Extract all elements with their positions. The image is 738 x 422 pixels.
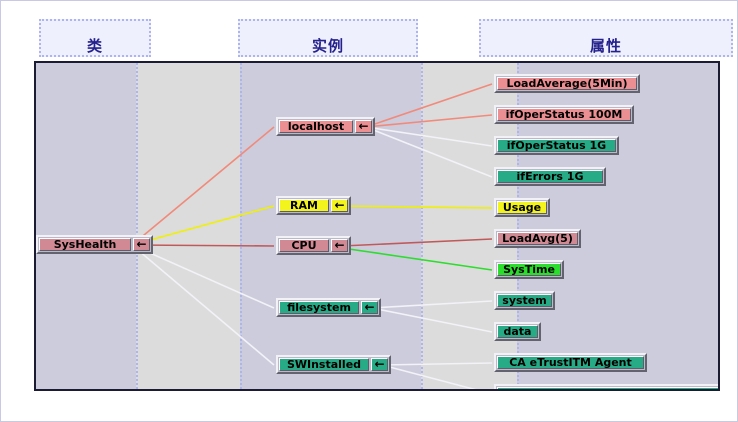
node-label-system: system bbox=[497, 294, 552, 307]
node-iferrors1g[interactable]: ifErrors 1G bbox=[494, 167, 606, 186]
node-syshealth[interactable]: SysHealth← bbox=[36, 235, 153, 254]
expand-arrow-icon-swinstalled[interactable]: ← bbox=[371, 358, 388, 371]
node-label-cpu: CPU bbox=[279, 239, 329, 252]
node-filesystem[interactable]: filesystem← bbox=[276, 298, 381, 317]
node-label-caetrustitm: CA eTrustITM Agent bbox=[497, 356, 644, 369]
node-label-data: data bbox=[497, 325, 538, 338]
node-systime[interactable]: SysTime bbox=[494, 260, 564, 279]
left-arrow-icon: ← bbox=[136, 238, 146, 250]
node-label-loadaverage5min: LoadAverage(5Min) bbox=[497, 77, 637, 90]
guide-line-0 bbox=[136, 63, 140, 389]
node-loadavg5[interactable]: LoadAvg(5) bbox=[494, 229, 581, 248]
node-localhost[interactable]: localhost← bbox=[276, 117, 375, 136]
node-ifoperstatus100m[interactable]: ifOperStatus 100M bbox=[494, 105, 634, 124]
node-ram[interactable]: RAM← bbox=[276, 196, 351, 215]
node-loadaverage5min[interactable]: LoadAverage(5Min) bbox=[494, 74, 640, 93]
column-title-class: 类 bbox=[41, 35, 149, 56]
column-panel-attribute: 属性 bbox=[479, 19, 733, 57]
expand-arrow-icon-cpu[interactable]: ← bbox=[331, 239, 348, 252]
expand-arrow-icon-syshealth[interactable]: ← bbox=[133, 238, 150, 251]
expand-arrow-icon-ram[interactable]: ← bbox=[331, 199, 348, 212]
column-title-instance: 实例 bbox=[240, 35, 416, 56]
node-label-loadavg5: LoadAvg(5) bbox=[497, 232, 578, 245]
node-label-syshealth: SysHealth bbox=[39, 238, 131, 251]
node-label-ifoperstatus1g: ifOperStatus 1G bbox=[497, 139, 616, 152]
graph-canvas[interactable]: SysHealth←localhost←RAM←CPU←filesystem←S… bbox=[34, 61, 720, 391]
node-label-ifoperstatus100m: ifOperStatus 100M bbox=[497, 108, 631, 121]
expand-arrow-icon-localhost[interactable]: ← bbox=[355, 120, 372, 133]
node-swinstalled[interactable]: SWInstalled← bbox=[276, 355, 391, 374]
node-label-ram: RAM bbox=[279, 199, 329, 212]
node-label-usage: Usage bbox=[497, 201, 547, 214]
column-panel-instance: 实例 bbox=[238, 19, 418, 57]
node-label-systime: SysTime bbox=[497, 263, 561, 276]
node-cpu[interactable]: CPU← bbox=[276, 236, 351, 255]
left-arrow-icon: ← bbox=[358, 120, 368, 132]
node-usage[interactable]: Usage bbox=[494, 198, 550, 217]
node-mshotfix[interactable]: Microsoft Hotfix Patch KB958644 bbox=[494, 384, 720, 391]
expand-arrow-icon-filesystem[interactable]: ← bbox=[361, 301, 378, 314]
column-panel-class: 类 bbox=[39, 19, 151, 57]
node-label-swinstalled: SWInstalled bbox=[279, 358, 369, 371]
left-arrow-icon: ← bbox=[334, 239, 344, 251]
node-label-iferrors1g: ifErrors 1G bbox=[497, 170, 603, 183]
column-title-attribute: 属性 bbox=[481, 35, 731, 56]
node-ifoperstatus1g[interactable]: ifOperStatus 1G bbox=[494, 136, 619, 155]
left-arrow-icon: ← bbox=[374, 358, 384, 370]
left-arrow-icon: ← bbox=[334, 199, 344, 211]
node-system[interactable]: system bbox=[494, 291, 555, 310]
node-label-localhost: localhost bbox=[279, 120, 353, 133]
left-arrow-icon: ← bbox=[364, 301, 374, 313]
guide-line-1 bbox=[240, 63, 244, 389]
topology-viewer: 类实例属性 SysHealth←localhost←RAM←CPU←filesy… bbox=[0, 0, 738, 422]
node-label-filesystem: filesystem bbox=[279, 301, 359, 314]
node-caetrustitm[interactable]: CA eTrustITM Agent bbox=[494, 353, 647, 372]
gap-band-0 bbox=[136, 63, 240, 389]
guide-line-2 bbox=[421, 63, 425, 389]
node-label-mshotfix: Microsoft Hotfix Patch KB958644 bbox=[497, 387, 720, 391]
node-data[interactable]: data bbox=[494, 322, 541, 341]
